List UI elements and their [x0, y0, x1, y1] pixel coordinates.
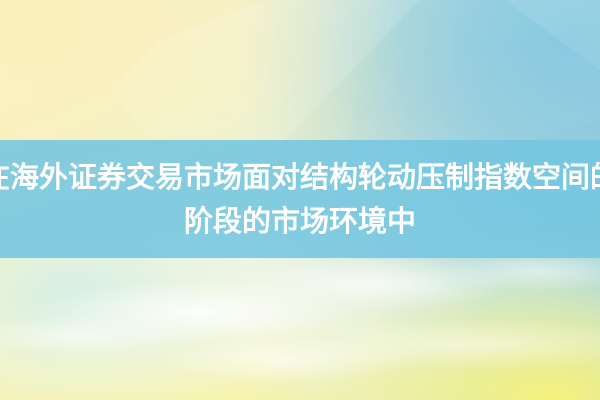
- title-banner: 在海外证券交易市场面对结构轮动压制指数空间的 阶段的市场环境中: [0, 140, 600, 258]
- banner-line-2: 阶段的市场环境中: [184, 199, 416, 243]
- banner-image: 在海外证券交易市场面对结构轮动压制指数空间的 阶段的市场环境中: [0, 0, 600, 400]
- banner-line-1: 在海外证券交易市场面对结构轮动压制指数空间的: [0, 155, 600, 199]
